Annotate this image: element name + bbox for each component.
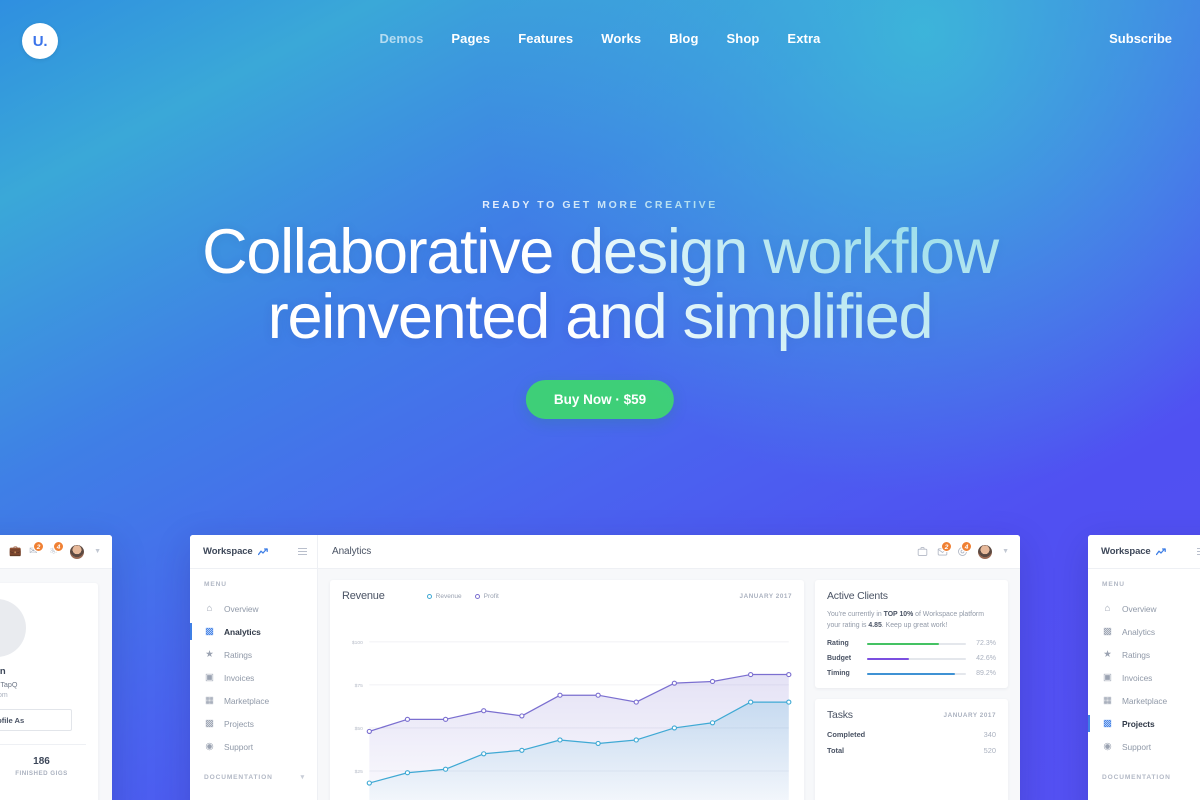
revenue-date-range: JANUARY 2017 bbox=[740, 593, 792, 600]
store-icon: ▦ bbox=[1102, 696, 1113, 706]
chat-icon: ▩ bbox=[204, 719, 215, 729]
nav-item-pages[interactable]: Pages bbox=[451, 31, 490, 46]
revenue-chart-plot: $25$50$75$100 bbox=[342, 620, 792, 800]
metric-progress-track bbox=[867, 673, 966, 676]
dashboard-topbar: Workspace Analytics bbox=[190, 535, 1020, 569]
metric-row-budget: Budget 42.6% bbox=[827, 655, 996, 662]
lifebuoy-icon: ◉ bbox=[1102, 742, 1113, 752]
metric-value: 89.2% bbox=[966, 670, 996, 677]
sidebar-item-overview[interactable]: ⌂ Overview bbox=[1088, 597, 1200, 620]
nav-item-shop[interactable]: Shop bbox=[727, 31, 760, 46]
tasks-title: Tasks bbox=[827, 709, 853, 721]
sidebar-item-ratings[interactable]: ★ Ratings bbox=[1088, 643, 1200, 666]
profile-location: ngdom bbox=[0, 692, 86, 699]
dashboard-body: MENU ⌂ Overview ▩ Analytics ★ Ratings ▣ … bbox=[190, 569, 1020, 800]
svg-text:$100: $100 bbox=[352, 640, 363, 646]
home-icon: ⌂ bbox=[204, 604, 215, 614]
metric-progress-fill bbox=[867, 658, 909, 661]
sidebar-docs-label: DOCUMENTATION bbox=[1102, 774, 1171, 781]
metric-value: 42.6% bbox=[966, 655, 996, 662]
chat-icon: ▩ bbox=[1102, 719, 1113, 729]
active-clients-title: Active Clients bbox=[827, 590, 996, 602]
legend-label: Profit bbox=[484, 593, 499, 600]
nav-item-demos[interactable]: Demos bbox=[380, 31, 424, 46]
hamburger-menu-icon[interactable] bbox=[298, 548, 307, 556]
sidebar-item-label: Overview bbox=[1122, 604, 1157, 614]
desc-highlight-rating: 4.85 bbox=[868, 622, 881, 629]
svg-text:$75: $75 bbox=[355, 683, 364, 689]
metric-value: 72.3% bbox=[966, 640, 996, 647]
sidebar-item-marketplace[interactable]: ▦ Marketplace bbox=[1088, 689, 1200, 712]
star-icon: ★ bbox=[204, 650, 215, 660]
sidebar-item-support[interactable]: ◉ Support bbox=[190, 735, 317, 758]
task-row-total: Total 520 bbox=[827, 746, 996, 755]
hero-section: U. Demos Pages Features Works Blog Shop … bbox=[0, 0, 1200, 800]
revenue-card-header: Revenue Revenue Profit bbox=[342, 590, 792, 602]
revenue-line-chart: $25$50$75$100 bbox=[342, 620, 792, 800]
chevron-down-icon[interactable]: ▼ bbox=[1002, 548, 1009, 555]
bell-icon[interactable]: 4 bbox=[957, 546, 968, 557]
svg-text:$50: $50 bbox=[355, 726, 364, 732]
metric-row-timing: Timing 89.2% bbox=[827, 670, 996, 677]
sidebar-item-label: Overview bbox=[224, 604, 259, 614]
top-navbar: U. Demos Pages Features Works Blog Shop … bbox=[0, 0, 1200, 82]
task-row-completed: Completed 340 bbox=[827, 730, 996, 739]
lifebuoy-icon: ◉ bbox=[204, 742, 215, 752]
sidebar-item-label: Support bbox=[224, 742, 253, 752]
content-side-column: Active Clients You're currently in TOP 1… bbox=[815, 580, 1008, 800]
sidebar-item-support[interactable]: ◉ Support bbox=[1088, 735, 1200, 758]
bar-chart-icon: ▩ bbox=[204, 627, 215, 637]
profile-card: ghn viously TapQ ngdom View Profile As 4… bbox=[0, 583, 98, 800]
left-board-body: ghn viously TapQ ngdom View Profile As 4… bbox=[0, 569, 112, 800]
metric-progress-fill bbox=[867, 643, 939, 646]
chevron-down-icon: ▾ bbox=[301, 773, 305, 781]
legend-dot-icon bbox=[475, 594, 480, 599]
left-dashboard-mockup: 💼 ✉ 2 ⚛ 4 ▼ ghn viously TapQ ngdom View … bbox=[0, 535, 112, 800]
tasks-card-header: Tasks JANUARY 2017 bbox=[827, 709, 996, 721]
nav-item-blog[interactable]: Blog bbox=[669, 31, 698, 46]
chart-legend: Revenue Profit bbox=[427, 593, 499, 600]
profile-subtitle: viously TapQ bbox=[0, 680, 86, 689]
hero-headline-line1: Collaborative design workflow bbox=[202, 217, 998, 287]
desc-highlight-top: TOP 10% bbox=[884, 611, 914, 618]
sidebar-item-label: Ratings bbox=[224, 650, 252, 660]
revenue-chart-card: Revenue Revenue Profit bbox=[330, 580, 804, 800]
desc-part: You're currently in bbox=[827, 611, 884, 618]
notifications-badge: 4 bbox=[961, 541, 972, 552]
notifications-badge: 4 bbox=[53, 541, 64, 552]
metric-row-rating: Rating 72.3% bbox=[827, 640, 996, 647]
sidebar-item-label: Invoices bbox=[1122, 673, 1152, 683]
sidebar-docs-label: DOCUMENTATION bbox=[204, 774, 273, 781]
sidebar-menu-heading: MENU bbox=[1088, 581, 1200, 597]
sidebar-item-label: Support bbox=[1122, 742, 1151, 752]
sidebar-item-label: Marketplace bbox=[1122, 696, 1167, 706]
metric-progress-track bbox=[867, 643, 966, 646]
right-board-body: MENU ⌂ Overview ▩ Analytics ★ Ratings ▣ … bbox=[1088, 569, 1200, 800]
metric-progress-fill bbox=[867, 673, 955, 676]
right-board-brand[interactable]: Workspace bbox=[1088, 535, 1200, 568]
hero-headline-line2: reinvented and simplified bbox=[0, 285, 1200, 350]
active-clients-description: You're currently in TOP 10% of Workspace… bbox=[827, 609, 996, 631]
revenue-title: Revenue bbox=[342, 590, 385, 602]
right-dashboard-mockup: Workspace MENU ⌂ Overview ▩ bbox=[1088, 535, 1200, 800]
task-value: 340 bbox=[984, 730, 996, 739]
dashboard-content: Revenue Revenue Profit bbox=[318, 569, 1020, 800]
sidebar-item-analytics[interactable]: ▩ Analytics bbox=[1088, 620, 1200, 643]
bell-icon[interactable]: ⚛ 4 bbox=[49, 546, 60, 557]
receipt-icon: ▣ bbox=[1102, 673, 1113, 683]
tasks-card: Tasks JANUARY 2017 Completed 340 Total 5… bbox=[815, 699, 1008, 800]
task-label: Completed bbox=[827, 730, 865, 739]
nav-item-extra[interactable]: Extra bbox=[787, 31, 820, 46]
avatar[interactable] bbox=[69, 544, 85, 560]
sidebar-item-label: Marketplace bbox=[224, 696, 269, 706]
sidebar-item-label: Invoices bbox=[224, 673, 254, 683]
hero-headline: Collaborative design workflow reinvented… bbox=[0, 220, 1200, 350]
desc-part: . Keep up great work! bbox=[882, 622, 948, 629]
content-main-column: Revenue Revenue Profit bbox=[330, 580, 804, 800]
avatar[interactable] bbox=[977, 544, 993, 560]
nav-item-works[interactable]: Works bbox=[601, 31, 641, 46]
left-board-topbar: 💼 ✉ 2 ⚛ 4 ▼ bbox=[0, 535, 112, 569]
right-board-topbar: Workspace bbox=[1088, 535, 1200, 569]
metric-progress-track bbox=[867, 658, 966, 661]
nav-item-features[interactable]: Features bbox=[518, 31, 573, 46]
primary-nav: Demos Pages Features Works Blog Shop Ext… bbox=[0, 31, 1200, 46]
profile-stat: 186 FINISHED GIGS bbox=[0, 756, 86, 777]
briefcase-icon[interactable]: 💼 bbox=[9, 546, 20, 557]
sidebar-item-overview[interactable]: ⌂ Overview bbox=[190, 597, 317, 620]
tasks-date-range: JANUARY 2017 bbox=[944, 712, 996, 719]
task-value: 520 bbox=[984, 746, 996, 755]
dashboard-sidebar: MENU ⌂ Overview ▩ Analytics ★ Ratings ▣ … bbox=[190, 569, 318, 800]
receipt-icon: ▣ bbox=[204, 673, 215, 683]
legend-label: Revenue bbox=[436, 593, 462, 600]
profile-avatar bbox=[0, 599, 26, 657]
legend-dot-icon bbox=[427, 594, 432, 599]
svg-text:$25: $25 bbox=[355, 769, 364, 775]
dashboard-brand[interactable]: Workspace bbox=[190, 535, 318, 568]
briefcase-icon[interactable] bbox=[917, 546, 928, 557]
sidebar-item-label: Ratings bbox=[1122, 650, 1150, 660]
home-icon: ⌂ bbox=[1102, 604, 1113, 614]
mail-icon[interactable]: ✉ 2 bbox=[29, 546, 40, 557]
sidebar-documentation-heading[interactable]: DOCUMENTATION ▾ bbox=[1088, 758, 1200, 781]
messages-badge: 2 bbox=[941, 541, 952, 552]
trend-up-icon bbox=[258, 543, 269, 561]
star-icon: ★ bbox=[1102, 650, 1113, 660]
store-icon: ▦ bbox=[204, 696, 215, 706]
main-dashboard-mockup: Workspace Analytics bbox=[190, 535, 1020, 800]
messages-badge: 2 bbox=[33, 541, 44, 552]
sidebar-item-marketplace[interactable]: ▦ Marketplace bbox=[190, 689, 317, 712]
sidebar-item-invoices[interactable]: ▣ Invoices bbox=[1088, 666, 1200, 689]
metric-label: Rating bbox=[827, 640, 867, 647]
sidebar-item-invoices[interactable]: ▣ Invoices bbox=[190, 666, 317, 689]
sidebar-menu-heading: MENU bbox=[190, 581, 317, 597]
sidebar-item-projects[interactable]: ▩ Projects bbox=[190, 712, 317, 735]
sidebar-item-label: Projects bbox=[1122, 719, 1155, 729]
sidebar-item-analytics[interactable]: ▩ Analytics bbox=[190, 620, 317, 643]
profile-stat-label: FINISHED GIGS bbox=[0, 770, 86, 777]
right-board-brand-name: Workspace bbox=[1101, 546, 1151, 557]
sidebar-item-label: Analytics bbox=[224, 627, 261, 637]
profile-name: ghn bbox=[0, 666, 86, 677]
chevron-down-icon[interactable]: ▼ bbox=[94, 548, 101, 555]
hero-eyebrow: READY TO GET MORE CREATIVE bbox=[0, 199, 1200, 211]
right-dashboard-sidebar: MENU ⌂ Overview ▩ Analytics ★ Ratings ▣ … bbox=[1088, 569, 1200, 800]
buy-now-button[interactable]: Buy Now · $59 bbox=[526, 380, 674, 419]
legend-item-profit[interactable]: Profit bbox=[475, 593, 499, 600]
bar-chart-icon: ▩ bbox=[1102, 627, 1113, 637]
sidebar-documentation-heading[interactable]: DOCUMENTATION ▾ bbox=[190, 758, 317, 781]
sidebar-item-ratings[interactable]: ★ Ratings bbox=[190, 643, 317, 666]
sidebar-item-label: Projects bbox=[224, 719, 254, 729]
page-title: Analytics bbox=[318, 546, 371, 557]
sidebar-item-projects[interactable]: ▩ Projects bbox=[1088, 712, 1200, 735]
task-label: Total bbox=[827, 746, 844, 755]
profile-stats: 4 NTS 186 FINISHED GIGS bbox=[0, 744, 86, 777]
left-board-toolbar: 💼 ✉ 2 ⚛ 4 ▼ bbox=[9, 544, 112, 560]
trend-up-icon bbox=[1156, 543, 1167, 561]
dashboard-toolbar: 2 4 ▼ bbox=[917, 544, 1020, 560]
metric-label: Budget bbox=[827, 655, 867, 662]
profile-stat-number: 186 bbox=[0, 756, 86, 767]
dashboard-brand-name: Workspace bbox=[203, 546, 253, 557]
mail-icon[interactable]: 2 bbox=[937, 546, 948, 557]
view-profile-as-button[interactable]: View Profile As bbox=[0, 709, 72, 731]
subscribe-link[interactable]: Subscribe bbox=[1109, 31, 1172, 46]
metric-label: Timing bbox=[827, 670, 867, 677]
legend-item-revenue[interactable]: Revenue bbox=[427, 593, 462, 600]
sidebar-item-label: Analytics bbox=[1122, 627, 1155, 637]
active-clients-card: Active Clients You're currently in TOP 1… bbox=[815, 580, 1008, 688]
